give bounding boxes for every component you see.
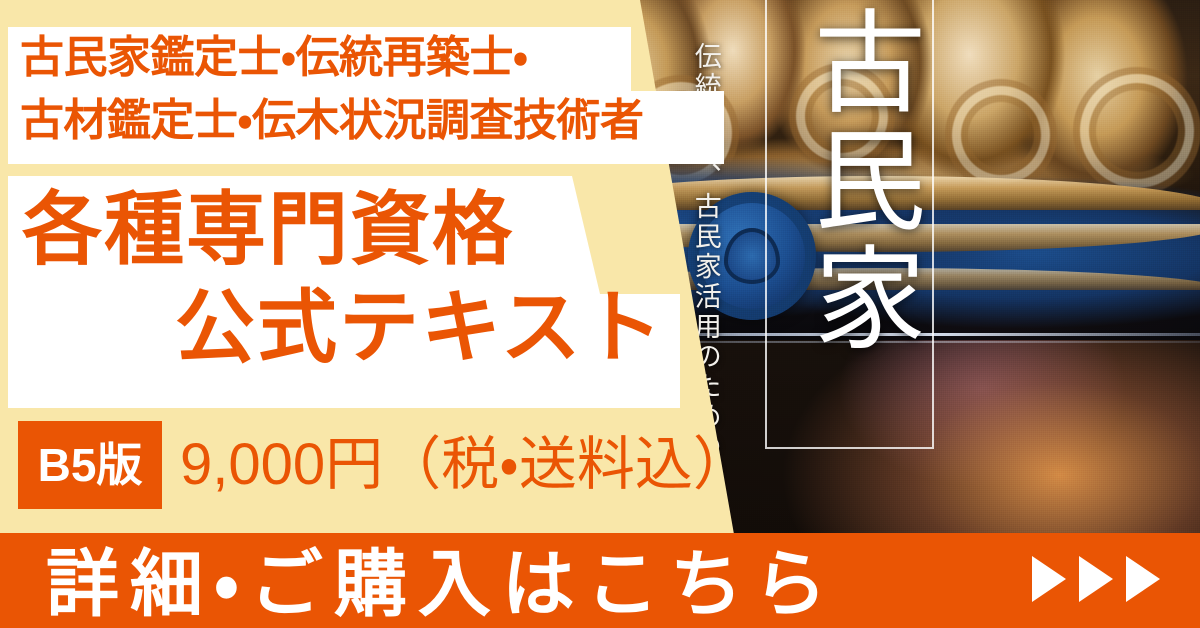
promo-banner: 古民家 伝統構法、古民家活用のための調査と再生の 古民家鑑定士・伝統再築士・古材… — [0, 0, 1200, 628]
cover-title: 古民家 — [772, 4, 922, 358]
price-text: 9,000円（税・送料込） — [180, 429, 751, 502]
arrow-right-icon — [1032, 556, 1066, 602]
headline-line-1: 各種専門資格 — [22, 190, 514, 270]
headline-line-2: 公式テキスト — [175, 288, 665, 368]
qualifications-line-1: 古民家鑑定士・伝統再築士・ — [20, 33, 527, 82]
cta-arrows[interactable] — [1032, 556, 1160, 602]
size-badge-label: B5版 — [38, 442, 143, 488]
qualifications-line-2: 古材鑑定士・伝木状況調査技術者 — [20, 96, 643, 145]
qualifications-text: 古民家鑑定士・伝統再築士・古材鑑定士・伝木状況調査技術者 — [20, 27, 720, 153]
arrow-right-icon — [1126, 556, 1160, 602]
cta-label[interactable]: 詳細・ご購入はこちら — [46, 542, 838, 628]
arrow-right-icon — [1079, 556, 1113, 602]
size-badge: B5版 — [18, 421, 162, 509]
